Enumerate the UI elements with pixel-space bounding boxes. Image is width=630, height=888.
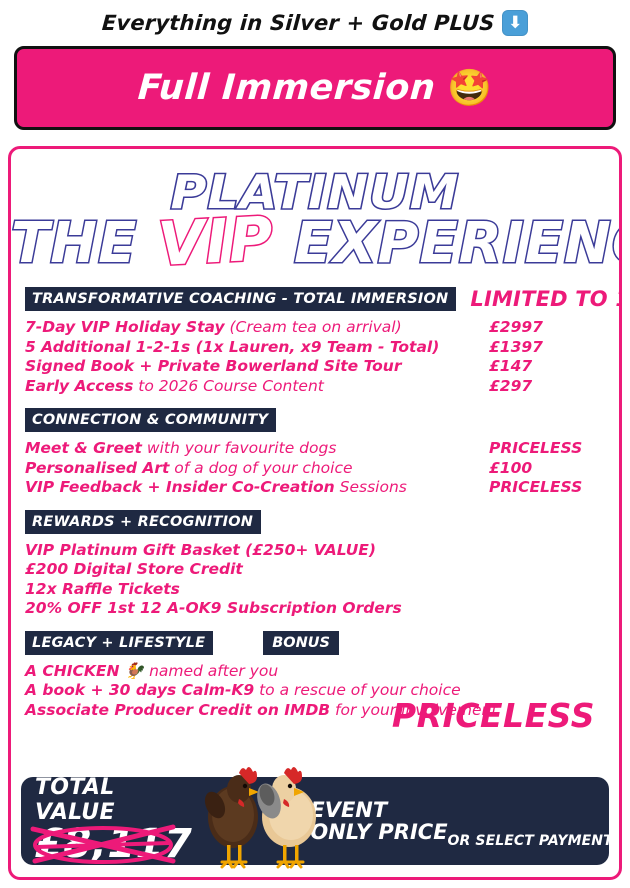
full-immersion-banner: Full Immersion 🤩 [14,46,616,130]
item-description: A CHICKEN 🐓 named after you [25,662,605,682]
list-item: 7-Day VIP Holiday Stay (Cream tea on arr… [25,318,605,338]
item-bold: VIP Platinum Gift Basket (£250+ VALUE) [25,541,376,559]
banner-label: Full Immersion [136,68,436,108]
event-price-amount: £3997 [448,793,622,833]
total-value-number: £8,117 [35,821,192,867]
item-description: £200 Digital Store Credit [25,560,605,580]
list-item: 12x Raffle Tickets [25,580,605,600]
sections-container: TRANSFORMATIVE COACHING - TOTAL IMMERSIO… [11,287,619,735]
down-arrow-icon: ⬇ [502,10,528,36]
limited-spots-badge: LIMITED TO 15 SPOTS! [470,287,622,311]
list-item: Early Access to 2026 Course Content £297 [25,377,605,397]
item-description: 7-Day VIP Holiday Stay (Cream tea on arr… [25,318,489,338]
item-description: Meet & Greet with your favourite dogs [25,439,489,459]
total-value-label: TOTAL VALUE [35,775,192,825]
list-item: VIP Feedback + Insider Co-Creation Sessi… [25,478,605,498]
list-item: 5 Additional 1-2-1s (1x Lauren, x9 Team … [25,338,605,358]
list-item: £200 Digital Store Credit [25,560,605,580]
item-bold: 20% OFF 1st 12 A-OK9 Subscription Orders [25,599,402,617]
section-rows-connection: Meet & Greet with your favourite dogs PR… [25,439,605,498]
chicken-illustration [189,755,339,873]
headline-platinum: PLATINUM [8,165,622,219]
item-price: £100 [489,459,605,479]
item-rest: (Cream tea on arrival) [225,318,402,336]
item-bold: A CHICKEN 🐓 [25,662,144,680]
item-price: £297 [489,377,605,397]
section-heading-connection-community: CONNECTION & COMMUNITY [25,408,276,432]
price-summary-bar: TOTAL VALUE £8,117 [21,777,609,865]
item-bold: 7-Day VIP Holiday Stay [25,318,225,336]
item-description: Signed Book + Private Bowerland Site Tou… [25,357,489,377]
section-header-row-connection: CONNECTION & COMMUNITY [25,408,605,432]
item-bold: Associate Producer Credit on IMDB [25,701,330,719]
section-header-row-coaching: TRANSFORMATIVE COACHING - TOTAL IMMERSIO… [25,287,605,311]
list-item: Personalised Art of a dog of your choice… [25,459,605,479]
item-description: Early Access to 2026 Course Content [25,377,489,397]
platinum-offer-card: PLATINUM THE VIP EXPERIENCE TRANSFORMATI… [8,146,622,880]
eyebrow-text: Everything in Silver + Gold PLUS [101,11,495,35]
item-price: PRICELESS [489,478,605,498]
item-rest: named after you [144,662,278,680]
list-item: Meet & Greet with your favourite dogs PR… [25,439,605,459]
item-rest: of a dog of your choice [169,459,352,477]
total-value-block: TOTAL VALUE £8,117 [21,775,192,867]
section-heading-transformative-coaching: TRANSFORMATIVE COACHING - TOTAL IMMERSIO… [25,287,456,311]
section-rows-coaching: 7-Day VIP Holiday Stay (Cream tea on arr… [25,318,605,396]
section-header-row-legacy: LEGACY + LIFESTYLE BONUS [25,631,605,655]
item-bold: Early Access [25,377,133,395]
eyebrow-line: Everything in Silver + Gold PLUS ⬇ [0,0,630,46]
item-bold: 12x Raffle Tickets [25,580,180,598]
item-rest: to 2026 Course Content [133,377,323,395]
list-item: 20% OFF 1st 12 A-OK9 Subscription Orders [25,599,605,619]
price-box: £3997 OR SELECT PAYMENT PLAN AT CHECKOUT [448,793,622,849]
item-bold: Meet & Greet [25,439,142,457]
item-description: VIP Feedback + Insider Co-Creation Sessi… [25,478,489,498]
bonus-badge: BONUS [263,631,339,655]
item-bold: Personalised Art [25,459,169,477]
list-item: A CHICKEN 🐓 named after you [25,662,605,682]
star-struck-emoji: 🤩 [447,70,492,106]
list-item: VIP Platinum Gift Basket (£250+ VALUE) [25,541,605,561]
item-rest: with your favourite dogs [142,439,336,457]
total-value-amount: £8,117 [35,821,192,867]
item-price: £2997 [489,318,605,338]
item-rest: Sessions [335,478,407,496]
item-description: 5 Additional 1-2-1s (1x Lauren, x9 Team … [25,338,489,358]
item-bold: A book + 30 days Calm-K9 [25,681,254,699]
item-price: PRICELESS [489,439,605,459]
section-header-row-rewards: REWARDS + RECOGNITION [25,510,605,534]
section-rows-rewards: VIP Platinum Gift Basket (£250+ VALUE) £… [25,541,605,619]
headline-experience: EXPERIENCE [274,211,622,276]
item-description: 20% OFF 1st 12 A-OK9 Subscription Orders [25,599,605,619]
item-description: VIP Platinum Gift Basket (£250+ VALUE) [25,541,605,561]
headline-the: THE [11,211,158,276]
list-item: Signed Book + Private Bowerland Site Tou… [25,357,605,377]
section-heading-rewards-recognition: REWARDS + RECOGNITION [25,510,261,534]
headline-block: PLATINUM THE VIP EXPERIENCE [11,159,619,275]
item-bold: £200 Digital Store Credit [25,560,243,578]
item-description: 12x Raffle Tickets [25,580,605,600]
item-bold: VIP Feedback + Insider Co-Creation [25,478,335,496]
item-price: £1397 [489,338,605,358]
item-bold: Signed Book + Private Bowerland Site Tou… [25,357,401,375]
item-bold: 5 Additional 1-2-1s (1x Lauren, x9 Team … [25,338,439,356]
payment-plan-note: OR SELECT PAYMENT PLAN AT CHECKOUT [448,833,622,849]
section-heading-legacy-lifestyle: LEGACY + LIFESTYLE [25,631,213,655]
item-price: £147 [489,357,605,377]
item-description: Personalised Art of a dog of your choice [25,459,489,479]
